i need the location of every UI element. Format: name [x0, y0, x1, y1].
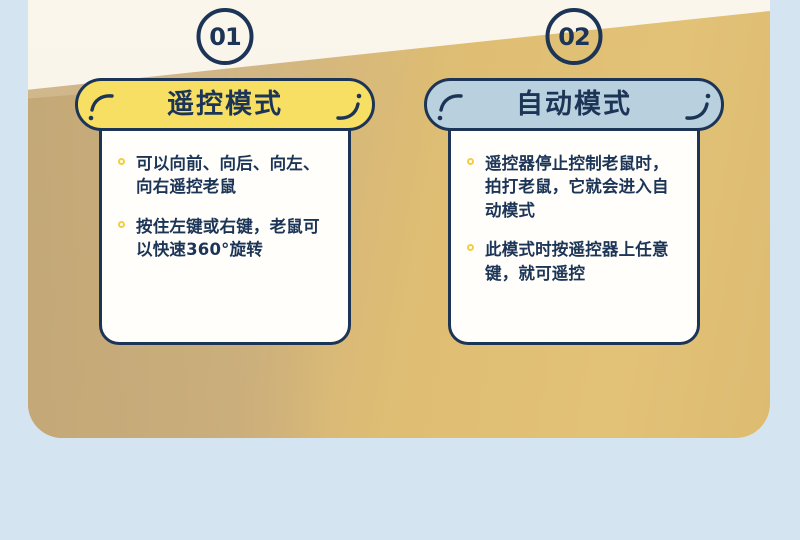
swoosh-decoration-left-icon [86, 88, 124, 126]
section-number-badge-02: 02 [546, 8, 603, 65]
section-title-01: 遥控模式 [167, 91, 283, 118]
section-number-badge-01: 01 [197, 8, 254, 65]
swoosh-decoration-right-icon [675, 88, 713, 126]
list-item: 此模式时按遥控器上任意键，就可遥控 [467, 238, 681, 285]
list-item: 可以向前、向后、向左、向右遥控老鼠 [118, 152, 332, 199]
section-title-pill-02: 自动模式 [424, 78, 724, 131]
section-remote-mode: 01 可以向前、向后、向左、向右遥控老鼠 按住左键或右键，老鼠可以快速360°旋… [75, 0, 375, 360]
poster-stage: 01 可以向前、向后、向左、向右遥控老鼠 按住左键或右键，老鼠可以快速360°旋… [0, 0, 800, 540]
list-item: 遥控器停止控制老鼠时，拍打老鼠，它就会进入自动模式 [467, 152, 681, 222]
badge-label: 01 [209, 25, 240, 49]
section-card-01: 可以向前、向后、向左、向右遥控老鼠 按住左键或右键，老鼠可以快速360°旋转 [99, 105, 351, 345]
list-item: 按住左键或右键，老鼠可以快速360°旋转 [118, 215, 332, 262]
section-title-pill-01: 遥控模式 [75, 78, 375, 131]
bullet-list-01: 可以向前、向后、向左、向右遥控老鼠 按住左键或右键，老鼠可以快速360°旋转 [118, 152, 332, 262]
badge-label: 02 [558, 25, 589, 49]
section-card-02: 遥控器停止控制老鼠时，拍打老鼠，它就会进入自动模式 此模式时按遥控器上任意键，就… [448, 105, 700, 345]
section-auto-mode: 02 遥控器停止控制老鼠时，拍打老鼠，它就会进入自动模式 此模式时按遥控器上任意… [424, 0, 724, 360]
swoosh-decoration-left-icon [435, 88, 473, 126]
section-title-02: 自动模式 [516, 91, 632, 118]
swoosh-decoration-right-icon [326, 88, 364, 126]
bullet-list-02: 遥控器停止控制老鼠时，拍打老鼠，它就会进入自动模式 此模式时按遥控器上任意键，就… [467, 152, 681, 285]
